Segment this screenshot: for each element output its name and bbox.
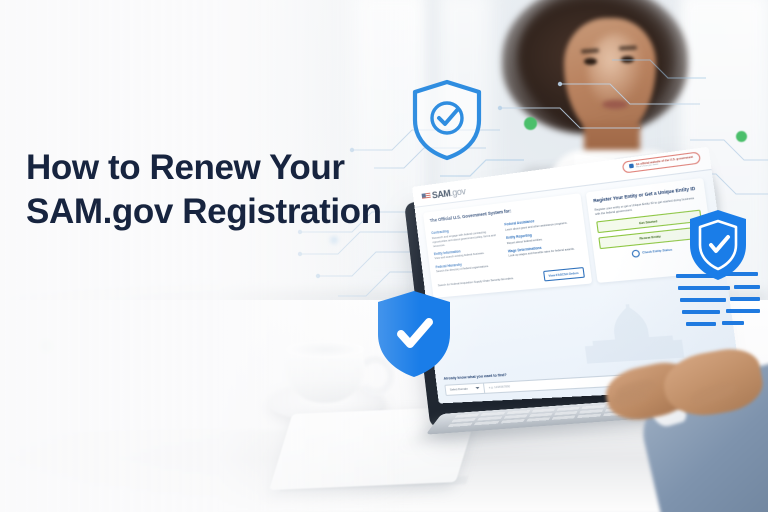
hero-banner: SAM.gov An official website of the U.S. …: [0, 0, 768, 512]
flag-square-icon: [629, 164, 634, 169]
search-input-placeholder: e.g. 1234567890: [489, 385, 511, 390]
accent-dot-green: [524, 117, 537, 130]
capitol-building-icon: [579, 300, 685, 364]
logo-text: SAM: [431, 188, 451, 200]
gov-banner-text: An official website of the U.S. governme…: [636, 155, 694, 169]
page-title: How to Renew Your SAM.gov Registration: [26, 146, 398, 234]
chevron-down-icon: [476, 387, 480, 389]
status-circle-icon: [632, 249, 641, 257]
shield-check-outline-icon: [409, 78, 485, 162]
official-system-card: The Official U.S. Government System for:…: [423, 193, 592, 298]
link-column-right: Federal Assistance Learn about grant and…: [504, 211, 583, 267]
flag-icon: [421, 192, 431, 201]
lips: [602, 100, 628, 109]
view-fascsa-orders-button[interactable]: View FASCSA Orders: [543, 267, 585, 282]
accent-dot-green: [736, 131, 747, 142]
domain-select-value: Select Domain: [450, 387, 468, 392]
sam-logo[interactable]: SAM.gov: [421, 185, 466, 204]
accent-dot-blue: [330, 236, 338, 244]
eye: [584, 58, 597, 65]
logo-suffix: .gov: [450, 186, 466, 198]
link-column-left: Contracting Research and engage with fed…: [431, 220, 505, 274]
cup-rim: [286, 341, 364, 358]
shield-check-layered-icon: [686, 208, 750, 282]
accent-dot-green: [38, 338, 54, 354]
sam-wordmark: SAM.gov: [431, 185, 466, 203]
shield-check-solid-icon: [372, 288, 456, 380]
fascsa-text: Search for Federal Acquisition Supply Ch…: [438, 275, 540, 289]
check-entity-status-label: Check Entity Status: [642, 247, 673, 254]
domain-select[interactable]: Select Domain: [444, 382, 484, 396]
eye: [621, 56, 634, 63]
